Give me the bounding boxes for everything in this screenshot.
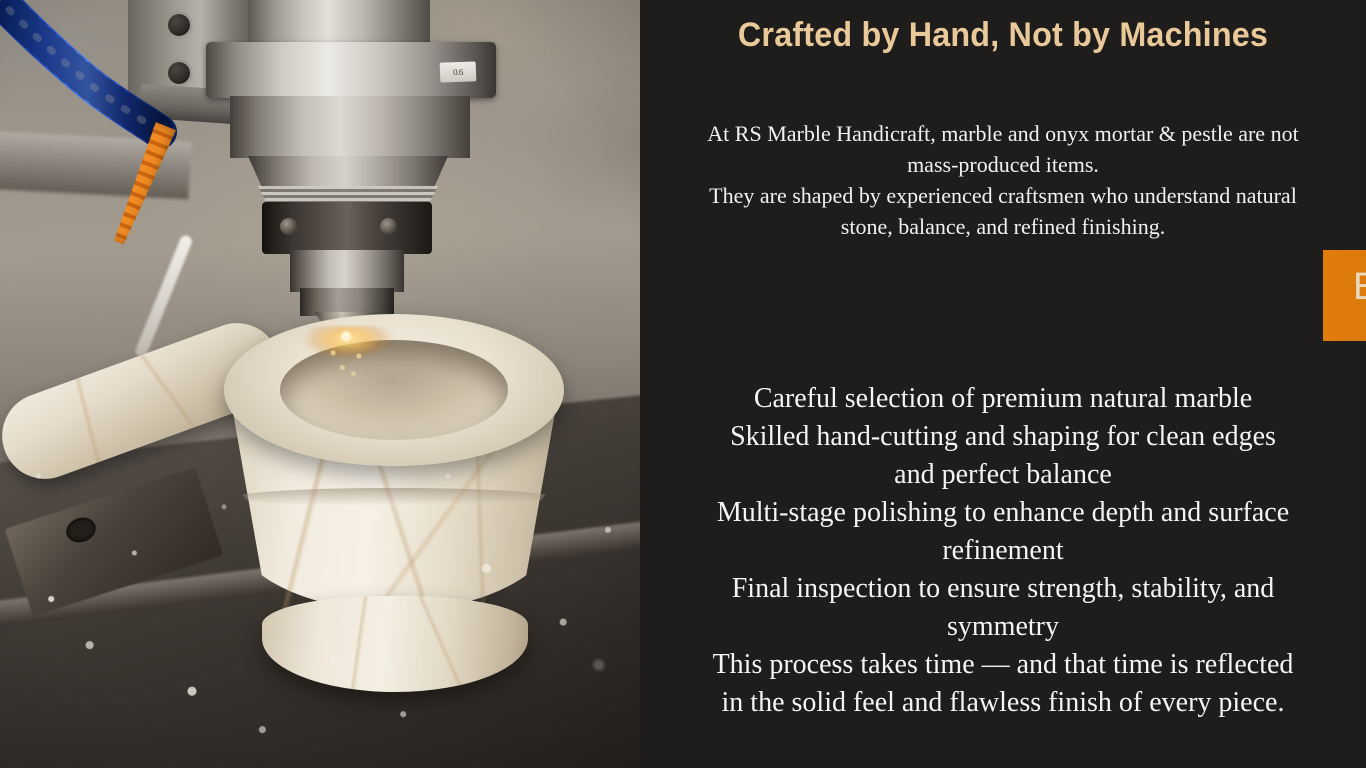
list-item: symmetry: [660, 608, 1346, 646]
intro-line-2: mass-produced items.: [907, 152, 1099, 177]
list-item: This process takes time — and that time …: [660, 646, 1346, 684]
content-pane: Crafted by Hand, Not by Machines At RS M…: [640, 0, 1366, 768]
list-item: Multi-stage polishing to enhance depth a…: [660, 494, 1346, 532]
workshop-photo: 0.6: [0, 0, 640, 768]
tool-holder-screw-right-icon: [380, 218, 397, 235]
list-item: in the solid feel and flawless finish of…: [660, 684, 1346, 722]
intro-line-3: They are shaped by experienced craftsmen…: [709, 183, 1297, 208]
tool-chuck: [290, 250, 404, 292]
page-title: Crafted by Hand, Not by Machines: [658, 16, 1348, 55]
spindle-collar-label: 0.6: [440, 61, 477, 82]
list-item: Skilled hand-cutting and shaping for cle…: [660, 418, 1346, 456]
intro-paragraph: At RS Marble Handicraft, marble and onyx…: [660, 118, 1346, 242]
highlight-band-heading: Each mortar pestle passes through:: [1353, 266, 1366, 309]
machining-spark-particles: [300, 330, 392, 382]
list-item: refinement: [660, 532, 1346, 570]
mortar-foot-veining: [262, 596, 528, 692]
list-item: and perfect balance: [660, 456, 1346, 494]
slide-root: 0.6: [0, 0, 1366, 768]
list-item: Final inspection to ensure strength, sta…: [660, 570, 1346, 608]
process-steps-list: Careful selection of premium natural mar…: [660, 380, 1346, 722]
mortar-groove-band: [238, 488, 550, 506]
intro-line-4: stone, balance, and refined finishing.: [841, 214, 1165, 239]
list-item: Careful selection of premium natural mar…: [660, 380, 1346, 418]
intro-line-1: At RS Marble Handicraft, marble and onyx…: [707, 121, 1298, 146]
